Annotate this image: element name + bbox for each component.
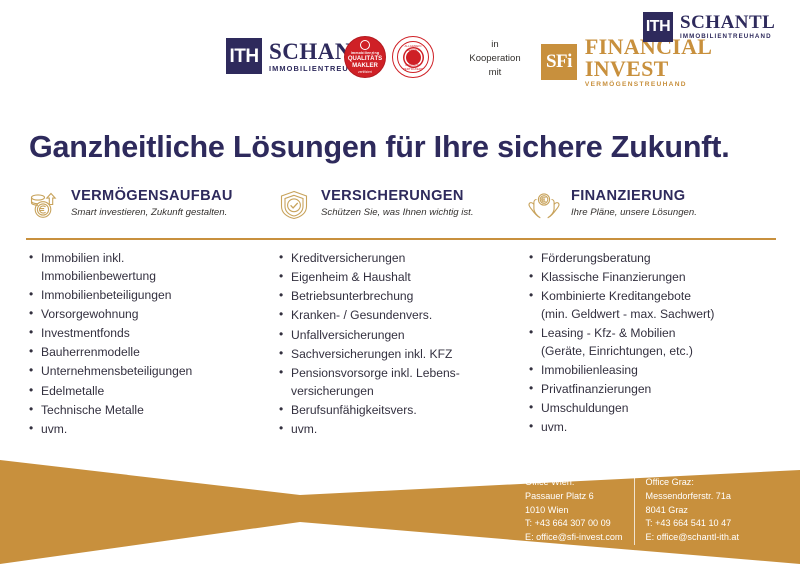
- sfi-mark-label: SFi: [546, 51, 572, 73]
- list-item-label: Bauherrenmodelle: [41, 345, 140, 359]
- cooperation-line-1: in: [463, 38, 527, 52]
- list-item-label: Sachversicherungen inkl. KFZ: [291, 347, 452, 361]
- sfi-brand-name: FINANCIAL INVEST: [585, 36, 800, 80]
- list-vermoegensaufbau: Immobilien inkl.Immobilienbewertung Immo…: [26, 250, 276, 440]
- list-item-label: Investmentfonds: [41, 326, 130, 340]
- logo-sfi-financial-invest: SFi FINANCIAL INVEST VERMÖGENSTREUHAND: [541, 36, 800, 89]
- list-item-label: Unfallversicherungen: [291, 328, 405, 342]
- office-graz-block: Office Graz: Messendorferstr. 71a 8041 G…: [634, 476, 739, 545]
- list-item-label: Eigenheim & Haushalt: [291, 270, 411, 284]
- ith-wordmark-topright: SCHANTL IMMOBILIENTREUHAND: [680, 13, 775, 40]
- list-item-label: Klassische Finanzierungen: [541, 270, 686, 284]
- seal-qualitaetsmakler-top: Immobilienring: [351, 51, 380, 55]
- list-item: Berufsunfähigkeitsvers.: [291, 402, 522, 420]
- seal-qualitaetsmakler-icon: Immobilienring QUALITÄTS MAKLER zertifiz…: [344, 36, 386, 78]
- list-item: Immobilien inkl.Immobilienbewertung: [41, 250, 272, 285]
- hands-holding-coin-icon: [526, 187, 562, 223]
- list-item-label: Leasing - Kfz- & Mobilien: [541, 326, 675, 340]
- list-item: Unfallversicherungen: [291, 327, 522, 345]
- list-finanzierung: Förderungsberatung Klassische Finanzieru…: [526, 250, 778, 440]
- office-wien-street: Passauer Platz 6: [525, 490, 623, 504]
- column-title-versicherungen: VERSICHERUNGEN: [321, 189, 474, 204]
- column-vermoegensaufbau-header: VERMÖGENSAUFBAU Smart investieren, Zukun…: [26, 186, 276, 230]
- seal-wko-bottom: GERICHTL. ZERTIFIZIERT: [398, 63, 428, 71]
- list-item-continuation: (Geräte, Einrichtungen, etc.): [541, 343, 774, 361]
- seal-wko-ring: ALLGEMEIN BEEIDET GERICHTL. ZERTIFIZIERT: [397, 41, 429, 73]
- column-subtitle-versicherungen: Schützen Sie, was Ihnen wichtig ist.: [321, 207, 474, 219]
- list-item-label: Betriebsunterbrechung: [291, 289, 413, 303]
- ith-mark-label-topright: ITH: [646, 19, 670, 35]
- list-item-label: Unternehmensbeteiligungen: [41, 364, 192, 378]
- column-finanzierung-header: FINANZIERUNG Ihre Pläne, unsere Lösungen…: [526, 186, 778, 230]
- list-item-continuation: versicherungen: [291, 383, 522, 401]
- list-item: Edelmetalle: [41, 383, 272, 401]
- list-item: Betriebsunterbrechung: [291, 288, 522, 306]
- service-lists: Immobilien inkl.Immobilienbewertung Immo…: [26, 250, 778, 440]
- list-item: Unternehmensbeteiligungen: [41, 363, 272, 381]
- list-item: Sachversicherungen inkl. KFZ: [291, 346, 522, 364]
- footer-contact-info: Office Wien: Passauer Platz 6 1010 Wien …: [525, 476, 739, 545]
- sfi-wordmark: FINANCIAL INVEST VERMÖGENSTREUHAND: [585, 36, 800, 89]
- column-versicherungen-header: VERSICHERUNGEN Schützen Sie, was Ihnen w…: [276, 186, 526, 230]
- ith-brand-tagline-topright: IMMOBILIENTREUHAND: [680, 34, 775, 40]
- shield-check-icon: [276, 187, 312, 223]
- gold-divider: [26, 238, 776, 240]
- office-wien-block: Office Wien: Passauer Platz 6 1010 Wien …: [525, 476, 634, 545]
- ith-mark-icon: ITH: [226, 38, 262, 74]
- column-title-vermoegensaufbau: VERMÖGENSAUFBAU: [71, 189, 233, 204]
- list-item: Kombinierte Kreditangebote(min. Geldwert…: [541, 288, 774, 323]
- sfi-brand-tagline: VERMÖGENSTREUHAND: [585, 82, 800, 89]
- ith-mark-icon-topright: ITH: [643, 12, 673, 42]
- list-item-label: Immobilienleasing: [541, 363, 638, 377]
- list-item: Kreditversicherungen: [291, 250, 522, 268]
- list-item: uvm.: [41, 421, 272, 439]
- office-graz-title: Office Graz:: [646, 476, 739, 490]
- brochure-page: ITH SCHANTL IMMOBILIENTREUHAND Immobilie…: [0, 0, 800, 564]
- list-item: Eigenheim & Haushalt: [291, 269, 522, 287]
- list-item: Leasing - Kfz- & Mobilien(Geräte, Einric…: [541, 325, 774, 360]
- cooperation-note: in Kooperation mit: [463, 38, 527, 79]
- cooperation-line-2: Kooperation: [463, 52, 527, 66]
- seal-qualitaetsmakler-emblem: [360, 40, 370, 50]
- office-graz-email[interactable]: E: office@schantl-ith.at: [646, 531, 739, 545]
- list-item: Klassische Finanzierungen: [541, 269, 774, 287]
- list-item-label: Privatfinanzierungen: [541, 382, 651, 396]
- logo-ith-schantl-topright: ITH SCHANTL IMMOBILIENTREUHAND: [643, 12, 775, 42]
- seal-qualitaetsmakler-bottom: zertifiziert: [358, 70, 372, 74]
- list-item-label: uvm.: [291, 422, 317, 436]
- list-item: Bauherrenmodelle: [41, 344, 272, 362]
- seal-wko-top: ALLGEMEIN BEEIDET: [398, 44, 428, 52]
- list-item-label: Förderungsberatung: [541, 251, 651, 265]
- office-wien-phone[interactable]: T: +43 664 307 00 09: [525, 517, 623, 531]
- list-item: Immobilienleasing: [541, 362, 774, 380]
- list-item: Pensionsvorsorge inkl. Lebens-versicheru…: [291, 365, 522, 400]
- office-wien-email[interactable]: E: office@sfi-invest.com: [525, 531, 623, 545]
- list-item-label: uvm.: [41, 422, 67, 436]
- column-subtitle-finanzierung: Ihre Pläne, unsere Lösungen.: [571, 207, 697, 219]
- cooperation-line-3: mit: [463, 66, 527, 80]
- list-item-label: Technische Metalle: [41, 403, 144, 417]
- seal-qualitaetsmakler-line2: MAKLER: [352, 63, 378, 69]
- column-title-finanzierung: FINANZIERUNG: [571, 189, 697, 204]
- list-item-label: Immobilien inkl.: [41, 251, 124, 265]
- list-item-label: Vorsorgewohnung: [41, 307, 139, 321]
- list-item-label: Immobilienbeteiligungen: [41, 288, 171, 302]
- list-versicherungen: Kreditversicherungen Eigenheim & Haushal…: [276, 250, 526, 440]
- sfi-mark-icon: SFi: [541, 44, 577, 80]
- list-item-label: Umschuldungen: [541, 401, 628, 415]
- ith-mark-label: ITH: [229, 47, 258, 66]
- list-item: Technische Metalle: [41, 402, 272, 420]
- list-item-continuation: (min. Geldwert - max. Sachwert): [541, 306, 774, 324]
- coins-euro-growth-icon: [26, 187, 62, 223]
- list-item: uvm.: [541, 419, 774, 437]
- list-item-label: Kreditversicherungen: [291, 251, 405, 265]
- list-item-label: Kombinierte Kreditangebote: [541, 289, 691, 303]
- list-item: Vorsorgewohnung: [41, 306, 272, 324]
- page-headline: Ganzheitliche Lösungen für Ihre sichere …: [29, 130, 729, 165]
- list-item: Immobilienbeteiligungen: [41, 287, 272, 305]
- office-graz-city: 8041 Graz: [646, 504, 739, 518]
- list-item: uvm.: [291, 421, 522, 439]
- list-item: Investmentfonds: [41, 325, 272, 343]
- list-item-label: Berufsunfähigkeitsvers.: [291, 403, 417, 417]
- list-item-label: Kranken- / Gesundenvers.: [291, 308, 432, 322]
- list-item: Privatfinanzierungen: [541, 381, 774, 399]
- header-logo-bar: ITH SCHANTL IMMOBILIENTREUHAND Immobilie…: [0, 0, 800, 108]
- list-item-label: uvm.: [541, 420, 567, 434]
- list-item: Umschuldungen: [541, 400, 774, 418]
- list-item-label: Pensionsvorsorge inkl. Lebens-: [291, 366, 460, 380]
- office-graz-phone[interactable]: T: +43 664 541 10 47: [646, 517, 739, 531]
- service-column-headers: VERMÖGENSAUFBAU Smart investieren, Zukun…: [26, 186, 778, 230]
- column-subtitle-vermoegensaufbau: Smart investieren, Zukunft gestalten.: [71, 207, 233, 219]
- list-item-continuation: Immobilienbewertung: [41, 268, 272, 286]
- list-item-label: Edelmetalle: [41, 384, 104, 398]
- office-wien-title: Office Wien:: [525, 476, 623, 490]
- list-item: Förderungsberatung: [541, 250, 774, 268]
- seal-wko-icon: ALLGEMEIN BEEIDET GERICHTL. ZERTIFIZIERT: [392, 36, 434, 78]
- ith-brand-name-topright: SCHANTL: [680, 13, 775, 32]
- office-wien-city: 1010 Wien: [525, 504, 623, 518]
- office-graz-street: Messendorferstr. 71a: [646, 490, 739, 504]
- list-item: Kranken- / Gesundenvers.: [291, 307, 522, 325]
